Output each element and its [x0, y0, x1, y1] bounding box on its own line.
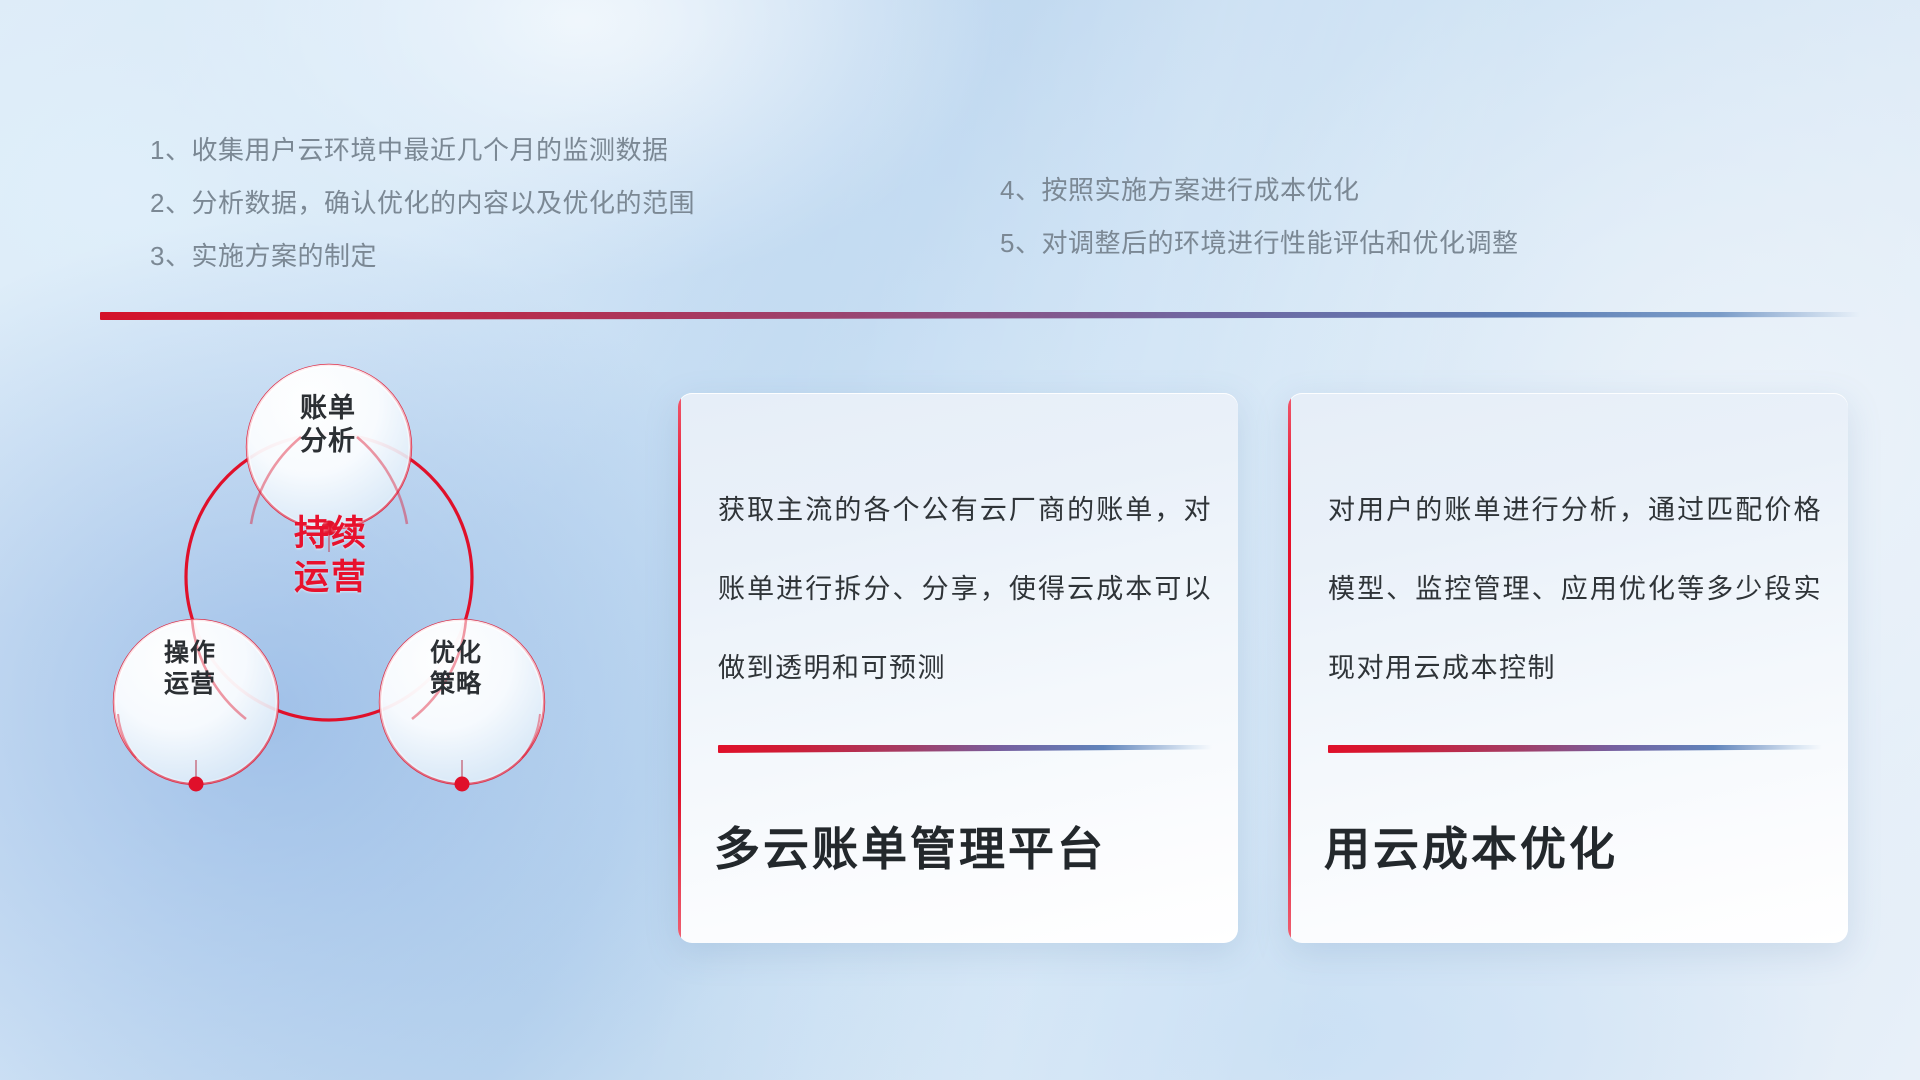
step-item-4: 4、按照实施方案进行成本优化 [1000, 164, 1518, 217]
diagram-node-label-billing-analysis: 账单 分析 [248, 392, 408, 458]
card-body-text: 获取主流的各个公有云厂商的账单，对账单进行拆分、分享，使得云成本可以做到透明和可… [718, 471, 1212, 708]
card-title: 多云账单管理平台 [714, 813, 1214, 879]
continuous-operation-diagram: 账单 分析 操作 运营 优化 策略 持续 运营 [96, 352, 616, 912]
diagram-node-label-operations: 操作 运营 [120, 638, 260, 699]
step-item-2: 2、分析数据，确认优化的内容以及优化的范围 [150, 177, 695, 230]
step-item-3: 3、实施方案的制定 [150, 230, 695, 283]
node-dot-right [455, 777, 470, 792]
card-cloud-cost-optimization[interactable]: 对用户的账单进行分析，通过匹配价格模型、监控管理、应用优化等多少段实现对用云成本… [1288, 393, 1848, 943]
card-body-text: 对用户的账单进行分析，通过匹配价格模型、监控管理、应用优化等多少段实现对用云成本… [1328, 471, 1822, 708]
diagram-node-label-optimization-strategy: 优化 策略 [386, 638, 526, 699]
diagram-center-label: 持续 运营 [251, 512, 411, 600]
step-item-1: 1、收集用户云环境中最近几个月的监测数据 [150, 124, 695, 177]
card-title: 用云成本优化 [1324, 813, 1824, 879]
steps-right-column: 4、按照实施方案进行成本优化 5、对调整后的环境进行性能评估和优化调整 [1000, 164, 1518, 270]
step-item-5: 5、对调整后的环境进行性能评估和优化调整 [1000, 217, 1518, 270]
card-divider-rule [1328, 745, 1822, 753]
card-multi-cloud-billing-platform[interactable]: 获取主流的各个公有云厂商的账单，对账单进行拆分、分享，使得云成本可以做到透明和可… [678, 393, 1238, 943]
node-dot-left [189, 777, 204, 792]
card-divider-rule [718, 745, 1212, 753]
steps-left-column: 1、收集用户云环境中最近几个月的监测数据 2、分析数据，确认优化的内容以及优化的… [150, 124, 695, 283]
